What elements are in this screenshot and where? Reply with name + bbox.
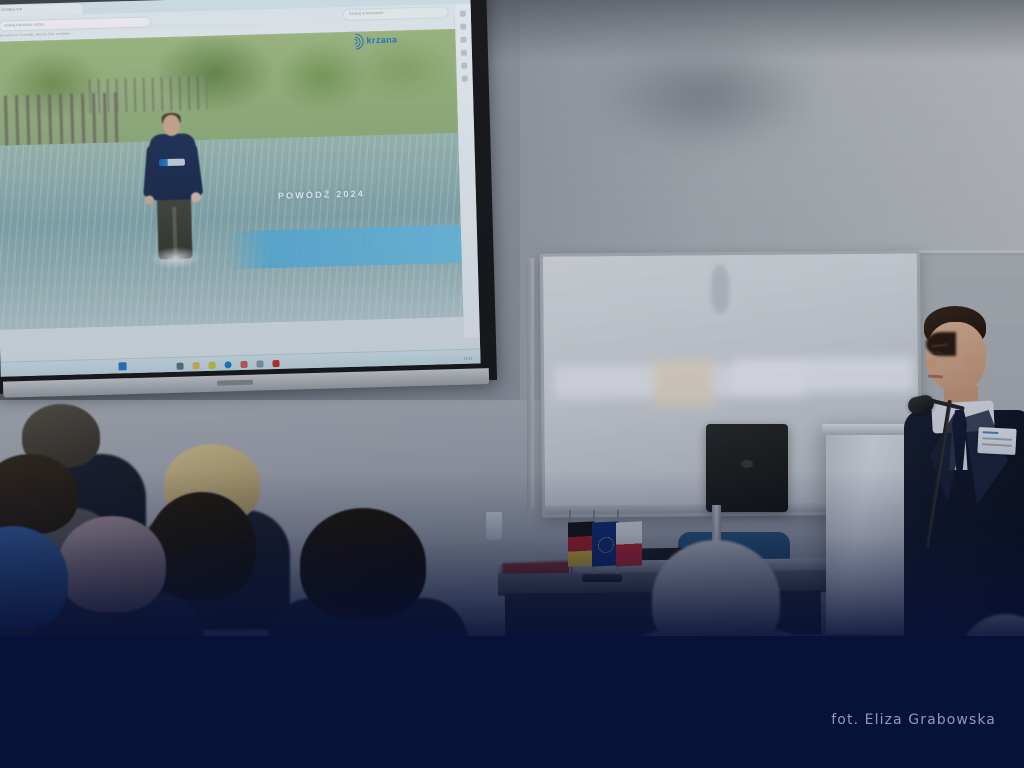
photo-credit: fot. Eliza Grabowska	[831, 712, 996, 728]
conference-photograph: Zaloguj się Zaloguj się — ▫ ✕ szukaj lub…	[0, 0, 1024, 660]
screenshot-canvas: Zaloguj się Zaloguj się — ▫ ✕ szukaj lub…	[0, 0, 1024, 768]
bottom-fade-overlay	[0, 470, 1024, 660]
footer-band	[0, 636, 1024, 768]
